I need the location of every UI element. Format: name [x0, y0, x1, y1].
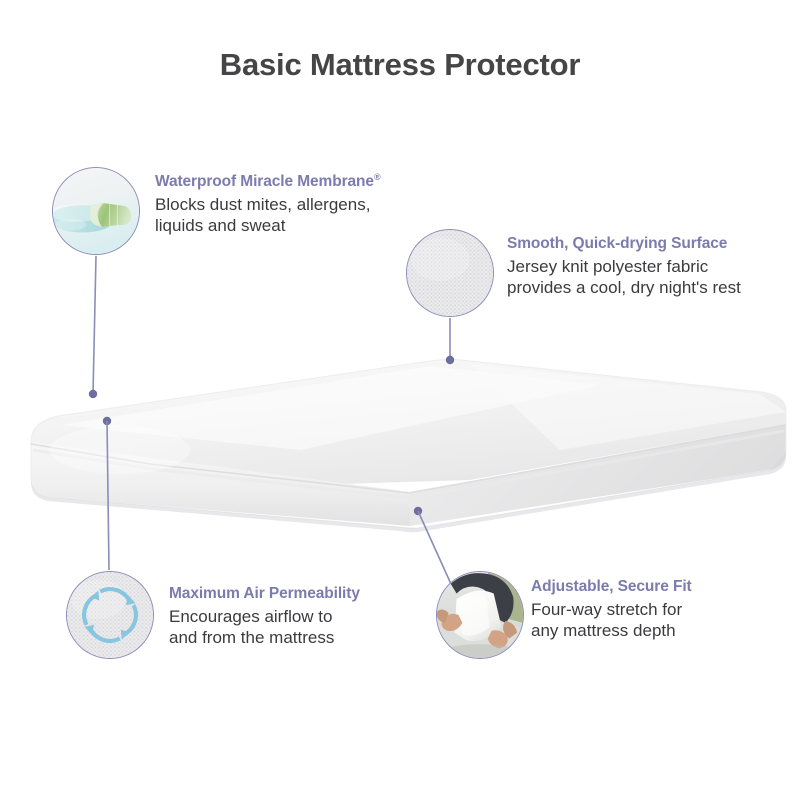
page-title: Basic Mattress Protector	[0, 47, 800, 83]
callout-heading: Adjustable, Secure Fit	[531, 577, 692, 597]
fabric-texture-icon	[406, 229, 494, 317]
callout-body-line2: and from the mattress	[169, 627, 360, 648]
infographic-page: Basic Mattress Protector	[0, 0, 800, 800]
callout-adjustable-secure-fit: Adjustable, Secure Fit Four-way stretch …	[531, 577, 692, 641]
registered-trademark-icon: ®	[374, 172, 381, 182]
callout-body-line1: Jersey knit polyester fabric	[507, 256, 741, 277]
callout-body-line1: Blocks dust mites, allergens,	[155, 194, 381, 215]
airflow-arrows-icon	[66, 571, 154, 659]
callout-waterproof-miracle-membrane: Waterproof Miracle Membrane® Blocks dust…	[155, 172, 381, 236]
callout-heading: Smooth, Quick-drying Surface	[507, 234, 741, 254]
callout-smooth-quick-drying-surface: Smooth, Quick-drying Surface Jersey knit…	[507, 234, 741, 298]
callout-heading: Maximum Air Permeability	[169, 584, 360, 604]
callout-body-line1: Encourages airflow to	[169, 606, 360, 627]
callout-body-line1: Four-way stretch for	[531, 599, 692, 620]
callout-body-line2: liquids and sweat	[155, 215, 381, 236]
callout-maximum-air-permeability: Maximum Air Permeability Encourages airf…	[169, 584, 360, 648]
callout-heading: Waterproof Miracle Membrane®	[155, 172, 381, 192]
callout-body-line2: any mattress depth	[531, 620, 692, 641]
callout-heading-text: Waterproof Miracle Membrane	[155, 173, 374, 190]
mattress-illustration	[0, 330, 800, 590]
membrane-cross-section-icon	[52, 167, 140, 255]
hands-stretching-protector-icon	[436, 571, 524, 659]
callout-body-line2: provides a cool, dry night's rest	[507, 277, 741, 298]
